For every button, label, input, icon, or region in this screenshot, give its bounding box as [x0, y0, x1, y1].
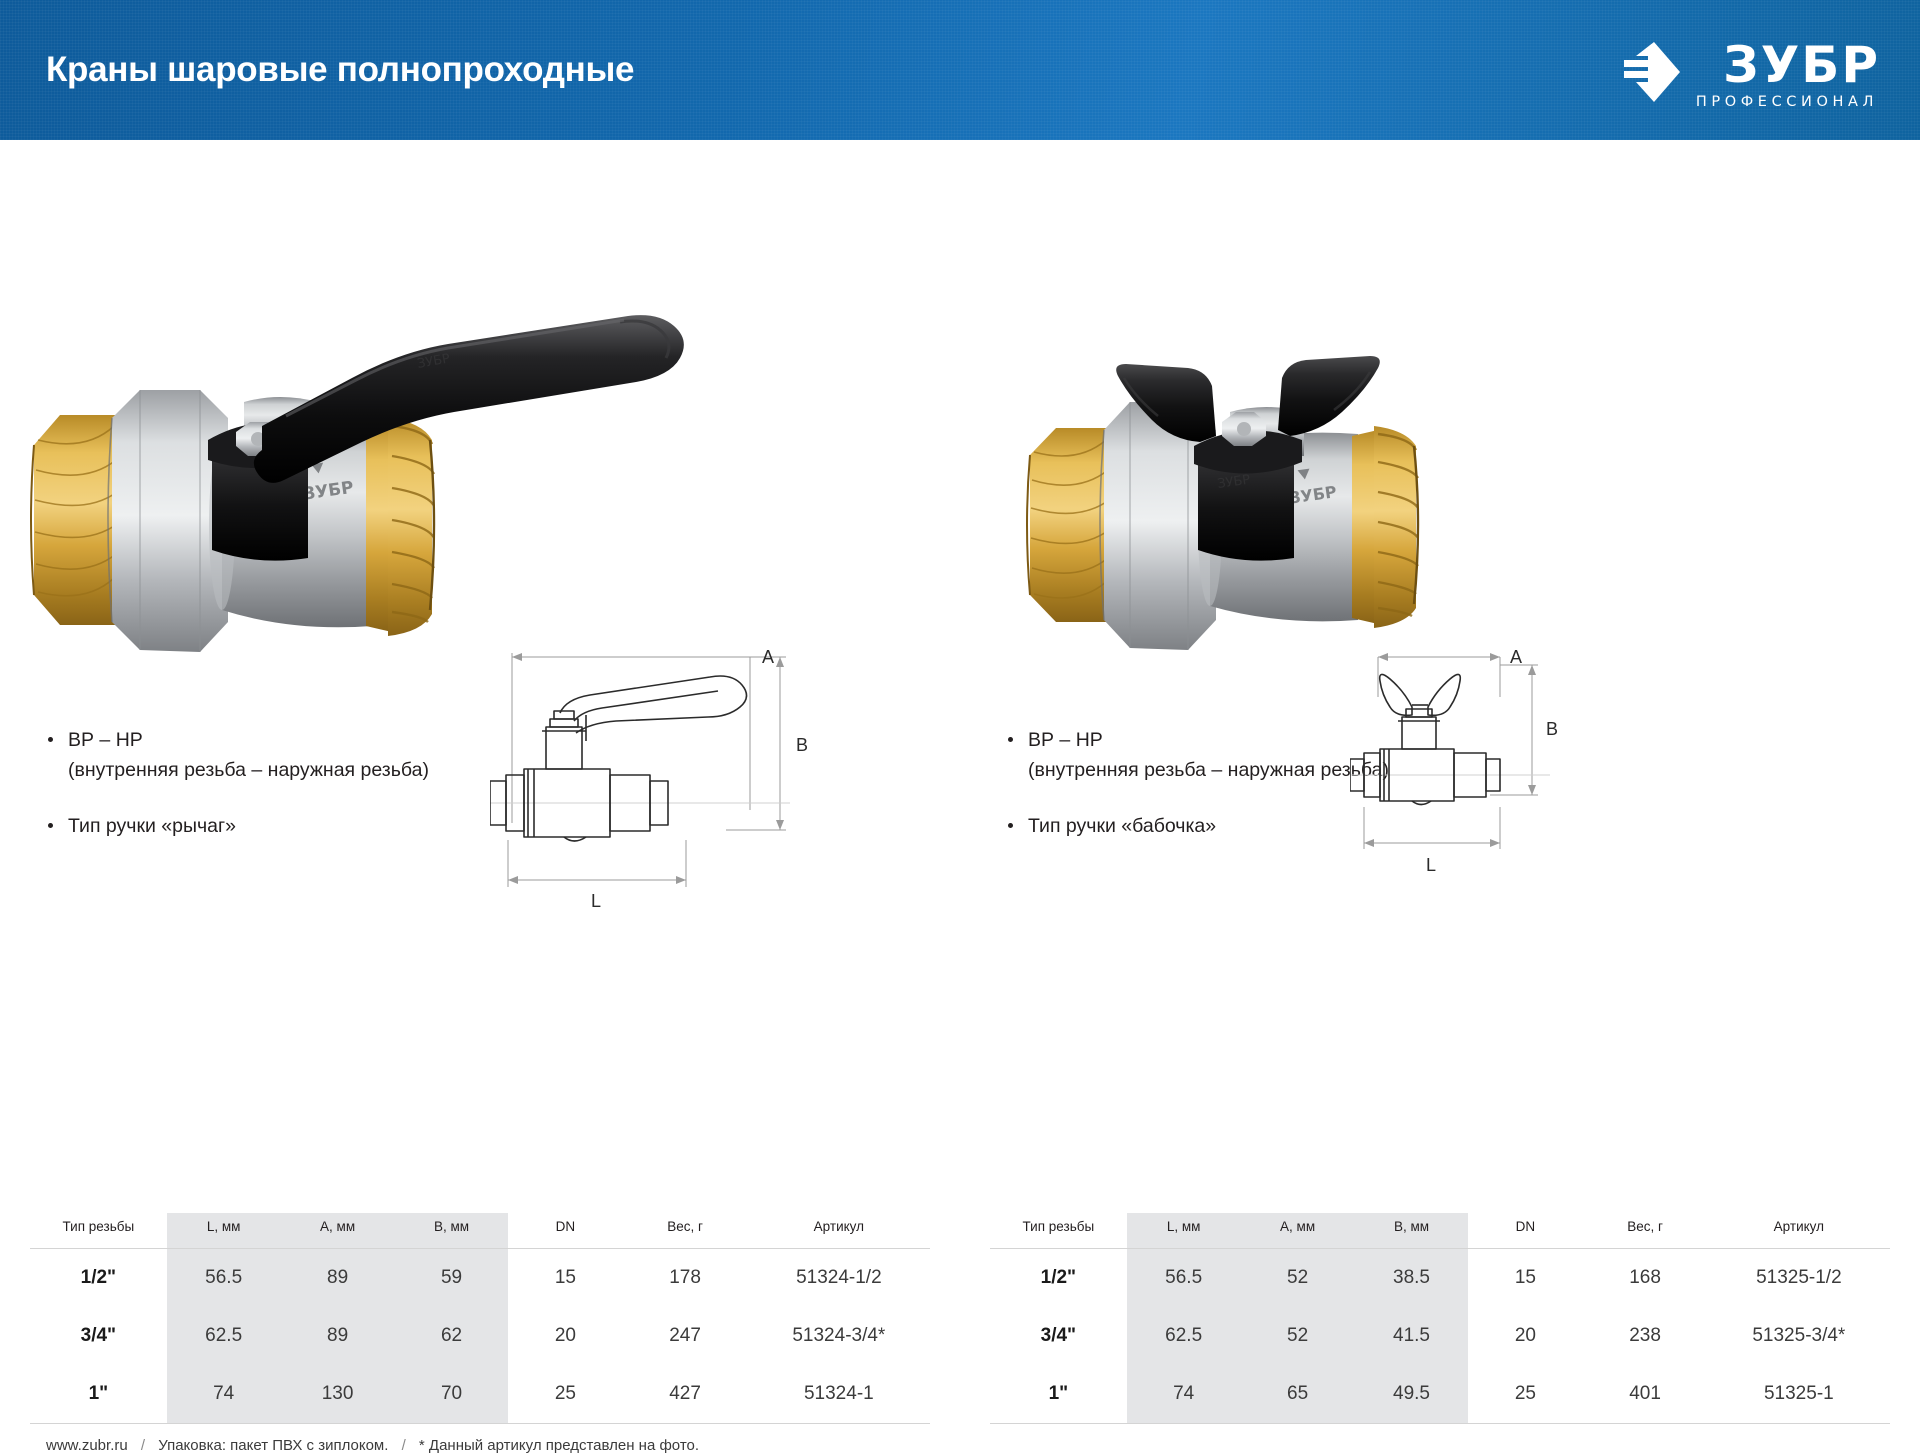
- product-photo-butterfly: 3/4" ЗУБР: [960, 140, 1920, 660]
- cell-dn: 20: [1468, 1307, 1582, 1365]
- table-row: 1" 74 65 49.5 25 401 51325-1: [990, 1365, 1890, 1424]
- table-row: 1/2" 56.5 52 38.5 15 168 51325-1/2: [990, 1249, 1890, 1308]
- dimension-label-b: B: [796, 735, 808, 755]
- cell-thread: 1": [990, 1365, 1127, 1424]
- zubr-diamond-icon: [1614, 38, 1682, 106]
- bullet-dot-icon: [1008, 737, 1013, 742]
- cell-thread: 1/2": [990, 1249, 1127, 1308]
- cell-l: 62.5: [1127, 1307, 1241, 1365]
- dimension-label-l: L: [1426, 855, 1436, 875]
- feature-main: Тип ручки «рычаг»: [68, 815, 236, 837]
- cell-l: 56.5: [1127, 1249, 1241, 1308]
- page-title: Краны шаровые полнопроходные: [46, 50, 634, 90]
- cell-a: 52: [1241, 1249, 1355, 1308]
- cell-b: 41.5: [1355, 1307, 1469, 1365]
- col-header-b: B, мм: [1355, 1213, 1469, 1249]
- table-row: 1" 74 130 70 25 427 51324-1: [30, 1365, 930, 1424]
- cell-dn: 25: [508, 1365, 622, 1424]
- cell-article: 51325-3/4*: [1708, 1307, 1890, 1365]
- col-header-dn: DN: [508, 1213, 622, 1249]
- brand-subtitle: ПРОФЕССИОНАЛ: [1696, 93, 1878, 111]
- cell-weight: 168: [1582, 1249, 1707, 1308]
- cell-l: 62.5: [167, 1307, 281, 1365]
- product-column-lever: 3/4" ЗУБР: [0, 140, 960, 1357]
- feature-item: Тип ручки «рычаг»: [46, 811, 466, 841]
- cell-weight: 178: [622, 1249, 747, 1308]
- table-header-row: Тип резьбы L, мм A, мм B, мм DN Вес, г А…: [30, 1213, 930, 1249]
- page-header: Краны шаровые полнопроходные ЗУБР ПРОФЕС…: [0, 0, 1920, 140]
- product-photo-lever: 3/4" ЗУБР: [0, 140, 960, 660]
- cell-a: 130: [281, 1365, 395, 1424]
- page-content: 3/4" ЗУБР: [0, 140, 1920, 1357]
- cell-dn: 25: [1468, 1365, 1582, 1424]
- product-column-butterfly: 3/4" ЗУБР: [960, 140, 1920, 1357]
- col-header-l: L, мм: [1127, 1213, 1241, 1249]
- col-header-weight: Вес, г: [622, 1213, 747, 1249]
- cell-dn: 15: [508, 1249, 622, 1308]
- col-header-weight: Вес, г: [1582, 1213, 1707, 1249]
- feature-main: Тип ручки «бабочка»: [1028, 815, 1216, 837]
- table-row: 1/2" 56.5 89 59 15 178 51324-1/2: [30, 1249, 930, 1308]
- cell-l: 74: [1127, 1365, 1241, 1424]
- cell-dn: 20: [508, 1307, 622, 1365]
- cell-a: 52: [1241, 1307, 1355, 1365]
- cell-dn: 15: [1468, 1249, 1582, 1308]
- technical-drawing-lever: A B L: [490, 635, 890, 1015]
- cell-thread: 3/4": [990, 1307, 1127, 1365]
- cell-weight: 427: [622, 1365, 747, 1424]
- footer-packaging: Упаковка: пакет ПВХ с зиплоком.: [158, 1437, 388, 1454]
- cell-thread: 1": [30, 1365, 167, 1424]
- col-header-b: B, мм: [395, 1213, 509, 1249]
- dimension-label-a: A: [1510, 647, 1522, 667]
- footer-separator: /: [402, 1437, 406, 1454]
- footer-separator: /: [141, 1437, 145, 1454]
- cell-a: 65: [1241, 1365, 1355, 1424]
- bullet-dot-icon: [48, 737, 53, 742]
- feature-main: ВР – НР: [68, 729, 143, 751]
- cell-weight: 401: [1582, 1365, 1707, 1424]
- cell-weight: 247: [622, 1307, 747, 1365]
- table-header-row: Тип резьбы L, мм A, мм B, мм DN Вес, г А…: [990, 1213, 1890, 1249]
- cell-article: 51325-1/2: [1708, 1249, 1890, 1308]
- col-header-dn: DN: [1468, 1213, 1582, 1249]
- cell-a: 89: [281, 1307, 395, 1365]
- brand-name: ЗУБР: [1723, 40, 1880, 90]
- dimension-label-b: B: [1546, 719, 1558, 739]
- cell-weight: 238: [1582, 1307, 1707, 1365]
- technical-drawing-butterfly: A B L: [1350, 635, 1650, 1015]
- col-header-thread: Тип резьбы: [990, 1213, 1127, 1249]
- spec-table-butterfly: Тип резьбы L, мм A, мм B, мм DN Вес, г А…: [990, 1213, 1890, 1424]
- cell-a: 89: [281, 1249, 395, 1308]
- col-header-a: A, мм: [1241, 1213, 1355, 1249]
- footer-note: * Данный артикул представлен на фото.: [419, 1437, 699, 1454]
- feature-list-lever: ВР – НР (внутренняя резьба – наружная ре…: [46, 725, 466, 841]
- brand-logo: ЗУБР ПРОФЕССИОНАЛ: [1614, 38, 1880, 108]
- table-row: 3/4" 62.5 52 41.5 20 238 51325-3/4*: [990, 1307, 1890, 1365]
- cell-thread: 1/2": [30, 1249, 167, 1308]
- cell-thread: 3/4": [30, 1307, 167, 1365]
- page-footer: www.zubr.ru / Упаковка: пакет ПВХ с зипл…: [46, 1437, 699, 1454]
- bullet-dot-icon: [48, 823, 53, 828]
- feature-item: ВР – НР (внутренняя резьба – наружная ре…: [46, 725, 466, 785]
- dimension-label-a: A: [762, 647, 774, 667]
- cell-article: 51324-1: [748, 1365, 930, 1424]
- cell-l: 56.5: [167, 1249, 281, 1308]
- feature-sub: (внутренняя резьба – наружная резьба): [68, 755, 466, 785]
- cell-b: 62: [395, 1307, 509, 1365]
- cell-b: 49.5: [1355, 1365, 1469, 1424]
- cell-b: 70: [395, 1365, 509, 1424]
- spec-table-lever: Тип резьбы L, мм A, мм B, мм DN Вес, г А…: [30, 1213, 930, 1424]
- col-header-thread: Тип резьбы: [30, 1213, 167, 1249]
- feature-main: ВР – НР: [1028, 729, 1103, 751]
- col-header-article: Артикул: [748, 1213, 930, 1249]
- col-header-a: A, мм: [281, 1213, 395, 1249]
- cell-b: 38.5: [1355, 1249, 1469, 1308]
- footer-website[interactable]: www.zubr.ru: [46, 1437, 128, 1454]
- col-header-l: L, мм: [167, 1213, 281, 1249]
- cell-l: 74: [167, 1365, 281, 1424]
- dimension-label-l: L: [591, 891, 601, 911]
- table-row: 3/4" 62.5 89 62 20 247 51324-3/4*: [30, 1307, 930, 1365]
- cell-article: 51324-3/4*: [748, 1307, 930, 1365]
- cell-article: 51325-1: [1708, 1365, 1890, 1424]
- col-header-article: Артикул: [1708, 1213, 1890, 1249]
- bullet-dot-icon: [1008, 823, 1013, 828]
- cell-article: 51324-1/2: [748, 1249, 930, 1308]
- cell-b: 59: [395, 1249, 509, 1308]
